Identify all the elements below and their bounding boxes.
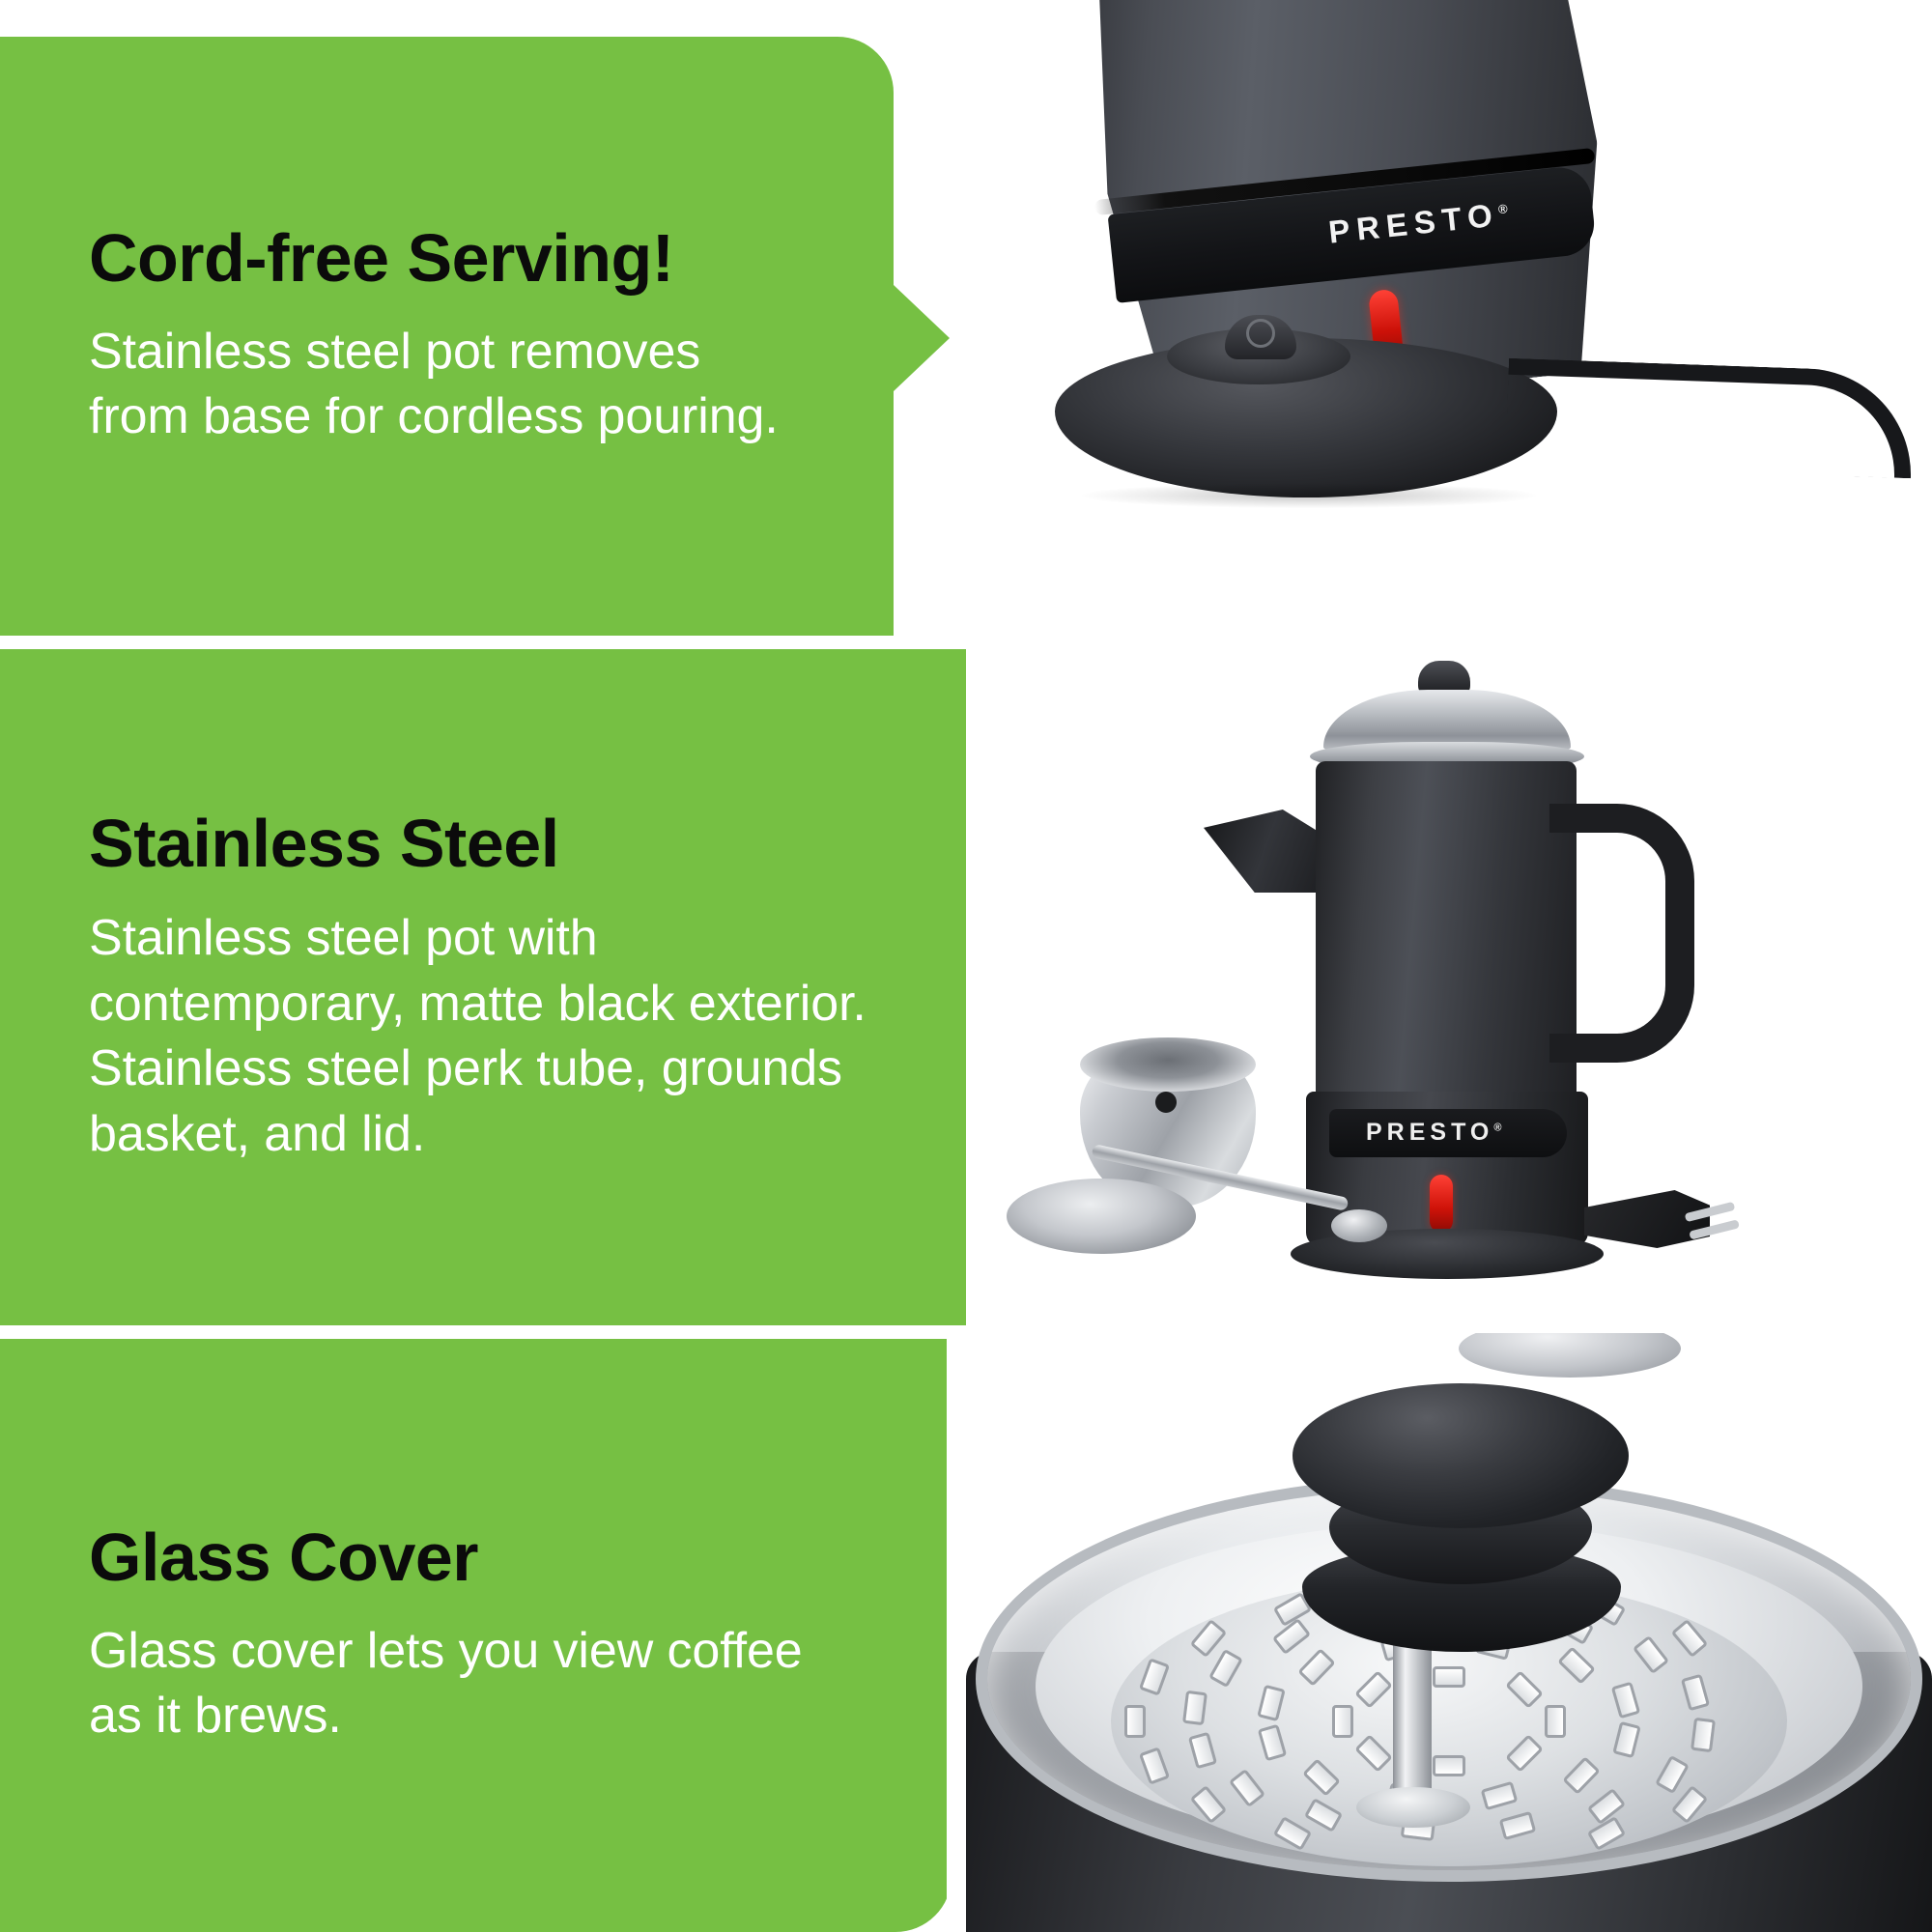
basket-perforation-slot <box>1257 1684 1286 1720</box>
presto-wordmark: PRESTO <box>1366 1119 1493 1146</box>
basket-perforation-slot <box>1505 1671 1544 1710</box>
basket-perforation-slot <box>1229 1769 1265 1807</box>
feature-panel-stainless-steel: Stainless Steel Stainless steel pot with… <box>0 649 966 1325</box>
trademark-symbol: ® <box>1497 201 1508 216</box>
panel-3-body: Glass cover lets you view coffee as it b… <box>89 1619 865 1749</box>
product-feature-infographic: Cord-free Serving! Stainless steel pot r… <box>0 0 1932 1932</box>
grounds-basket-opening <box>1080 1037 1256 1092</box>
panel-1-body: Stainless steel pot removes from base fo… <box>89 320 807 450</box>
basket-perforation-slot <box>1655 1755 1690 1794</box>
perk-tube-tip <box>1331 1209 1387 1242</box>
basket-perforation-slot <box>1302 1758 1341 1796</box>
perforated-basket-cover <box>1007 1179 1196 1254</box>
basket-perforation-slot <box>1138 1658 1169 1695</box>
basket-perforation-slot <box>1610 1682 1640 1719</box>
basket-perforation-slot <box>1182 1690 1207 1725</box>
product-photo-cordless-base: PRESTO® <box>966 0 1932 638</box>
panel-1-title: Cord-free Serving! <box>89 222 807 294</box>
perk-tube-stem <box>1393 1623 1432 1806</box>
basket-perforation-slot <box>1481 1781 1519 1811</box>
base-connector-pin-icon <box>1246 319 1275 348</box>
basket-perforation-slot <box>1272 1816 1311 1851</box>
basket-perforation-slot <box>1124 1705 1146 1738</box>
basket-perforation-slot <box>1208 1649 1243 1688</box>
basket-perforation-slot <box>1138 1747 1169 1784</box>
percolator-handle <box>1549 804 1694 1063</box>
feature-panel-cord-free-serving: Cord-free Serving! Stainless steel pot r… <box>0 37 894 636</box>
basket-perforation-slot <box>1633 1635 1669 1674</box>
background-lid-fragment <box>1459 1333 1681 1378</box>
basket-perforation-slot <box>1545 1705 1566 1738</box>
panel-2-title: Stainless Steel <box>89 808 879 879</box>
basket-perforation-slot <box>1433 1755 1465 1776</box>
panel-2-body: Stainless steel pot with contemporary, m… <box>89 906 879 1167</box>
basket-perforation-slot <box>1303 1799 1342 1833</box>
basket-perforation-slot <box>1505 1734 1544 1773</box>
basket-perforation-slot <box>1562 1756 1600 1795</box>
basket-perforation-slot <box>1298 1649 1336 1688</box>
basket-perforation-slot <box>1272 1618 1311 1655</box>
basket-perforation-slot <box>1354 1734 1393 1773</box>
basket-perforation-slot <box>1354 1671 1393 1710</box>
basket-perforation-slot <box>1613 1721 1642 1758</box>
perk-tube-stem-base <box>1356 1787 1470 1828</box>
panel-1-pointer-arrow-icon <box>894 285 950 391</box>
base-shadow <box>1082 483 1536 508</box>
basket-perforation-slot <box>1332 1705 1353 1738</box>
power-indicator-light <box>1430 1175 1453 1233</box>
panel-3-title: Glass Cover <box>89 1521 865 1593</box>
glass-cover-knob <box>1293 1383 1629 1528</box>
basket-perforation-slot <box>1690 1717 1716 1751</box>
basket-perforation-slot <box>1586 1816 1625 1851</box>
percolator-body <box>1316 761 1577 1138</box>
pour-spout <box>1204 810 1331 893</box>
grounds-basket-center-hole <box>1155 1092 1177 1113</box>
panel-2-content: Stainless Steel Stainless steel pot with… <box>0 808 966 1168</box>
trademark-symbol: ® <box>1493 1122 1501 1134</box>
panel-1-content: Cord-free Serving! Stainless steel pot r… <box>0 222 894 449</box>
basket-perforation-slot <box>1681 1674 1710 1712</box>
basket-perforation-slot <box>1498 1811 1536 1840</box>
basket-perforation-slot <box>1433 1666 1465 1688</box>
feature-panel-glass-cover: Glass Cover Glass cover lets you view co… <box>0 1339 952 1932</box>
basket-perforation-slot <box>1258 1724 1288 1762</box>
power-cord <box>1505 358 1915 479</box>
product-photo-percolator-and-parts: PRESTO® <box>966 638 1932 1333</box>
basket-perforation-slot <box>1557 1647 1596 1685</box>
presto-logo-photo-2: PRESTO® <box>1366 1119 1501 1147</box>
basket-perforation-slot <box>1187 1732 1216 1770</box>
panel-3-content: Glass Cover Glass cover lets you view co… <box>0 1521 952 1748</box>
product-photo-glass-cover <box>947 1333 1932 1932</box>
